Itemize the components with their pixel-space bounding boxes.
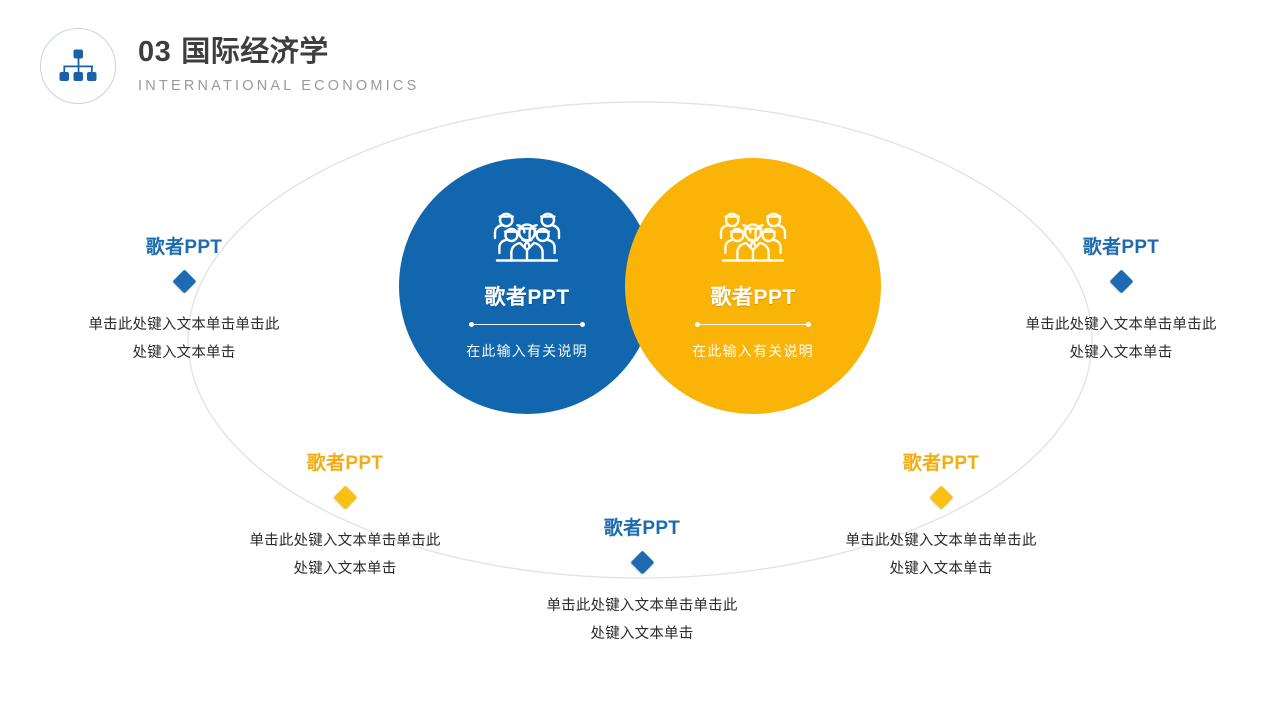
header-badge	[40, 28, 116, 104]
slide-header: 03国际经济学 INTERNATIONAL ECONOMICS	[40, 28, 419, 104]
main-circle-yellow-divider	[695, 321, 811, 328]
main-circle-blue[interactable]: 歌者PPT 在此输入有关说明	[399, 158, 655, 414]
item-left-top-title: 歌者PPT	[146, 237, 222, 260]
diamond-marker-icon	[333, 485, 357, 509]
diamond-marker-icon	[1109, 269, 1133, 293]
main-circle-yellow[interactable]: 歌者PPT 在此输入有关说明	[625, 158, 881, 414]
main-circle-blue-desc: 在此输入有关说明	[466, 341, 588, 361]
divider-dot-right	[806, 322, 811, 327]
org-chart-icon	[58, 48, 98, 84]
diamond-marker-icon	[630, 550, 654, 574]
page-title-number: 03	[138, 36, 171, 68]
people-group-icon-yellow	[711, 202, 795, 270]
page-title-text: 国际经济学	[181, 36, 329, 68]
item-bottom-center[interactable]: 歌者PPT 单击此处键入文本单击单击此处键入文本单击	[537, 518, 747, 648]
item-left-bottom[interactable]: 歌者PPT 单击此处键入文本单击单击此处键入文本单击	[240, 453, 450, 583]
item-right-bottom-title: 歌者PPT	[903, 453, 979, 476]
item-left-top-body: 单击此处键入文本单击单击此处键入文本单击	[84, 311, 284, 368]
item-bottom-center-body: 单击此处键入文本单击单击此处键入文本单击	[542, 592, 742, 649]
item-left-bottom-title: 歌者PPT	[307, 453, 383, 476]
diamond-marker-icon	[172, 269, 196, 293]
diamond-marker-icon	[929, 485, 953, 509]
divider-dot-right	[580, 322, 585, 327]
people-group-icon-blue	[485, 202, 569, 270]
main-circle-yellow-desc: 在此输入有关说明	[692, 341, 814, 361]
item-right-top-title: 歌者PPT	[1083, 237, 1159, 260]
divider-bar	[698, 324, 808, 325]
divider-bar	[472, 324, 582, 325]
item-bottom-center-title: 歌者PPT	[604, 518, 680, 541]
main-circle-blue-divider	[469, 321, 585, 328]
page-title: 03国际经济学	[138, 36, 419, 69]
item-left-top[interactable]: 歌者PPT 单击此处键入文本单击单击此处键入文本单击	[79, 237, 289, 367]
item-left-bottom-body: 单击此处键入文本单击单击此处键入文本单击	[245, 527, 445, 584]
main-circle-yellow-title: 歌者PPT	[710, 281, 795, 311]
page-subtitle: INTERNATIONAL ECONOMICS	[138, 78, 419, 94]
item-right-bottom[interactable]: 歌者PPT 单击此处键入文本单击单击此处键入文本单击	[836, 453, 1046, 583]
item-right-top-body: 单击此处键入文本单击单击此处键入文本单击	[1021, 311, 1221, 368]
item-right-bottom-body: 单击此处键入文本单击单击此处键入文本单击	[841, 527, 1041, 584]
header-text-group: 03国际经济学 INTERNATIONAL ECONOMICS	[138, 36, 419, 96]
main-circle-blue-title: 歌者PPT	[484, 281, 569, 311]
item-right-top[interactable]: 歌者PPT 单击此处键入文本单击单击此处键入文本单击	[1016, 237, 1226, 367]
slide-canvas: 03国际经济学 INTERNATIONAL ECONOMICS	[0, 0, 1280, 720]
